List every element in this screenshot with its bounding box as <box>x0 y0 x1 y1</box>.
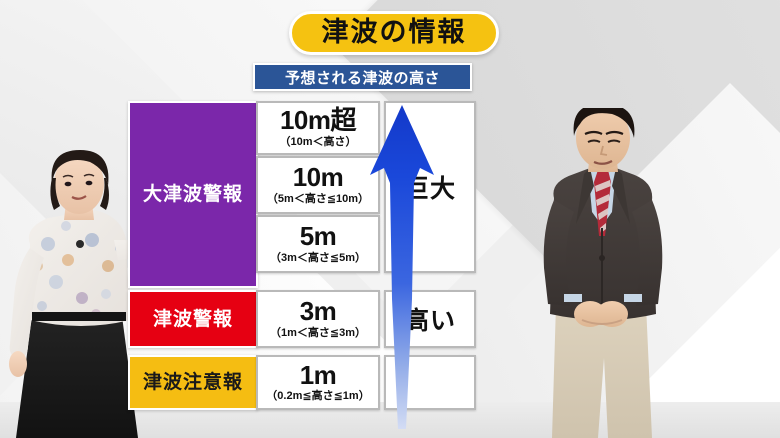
height-range-row1: （10m＜高さ） <box>279 136 356 149</box>
skirt <box>16 316 138 438</box>
alert-level-advisory-label: 津波注意報 <box>143 373 243 392</box>
tsunami-height-table: 予想される津波の高さ 大津波警報 津波警報 津波注意報 10m超 （10m＜高さ… <box>128 63 480 413</box>
height-value-row2: 10m <box>293 164 344 191</box>
lapel-microphone <box>76 240 84 248</box>
height-range-row3: （3m＜高さ≦5m） <box>270 252 366 265</box>
height-value-row1: 10m超 <box>280 107 356 134</box>
severity-word-cell-high: 高い <box>384 290 476 348</box>
program-title-banner: 津波の情報 <box>289 11 499 55</box>
eye <box>65 182 72 187</box>
height-cell-row4: 3m （1m＜高さ≦3m） <box>256 290 380 348</box>
alert-level-major-warning-label: 大津波警報 <box>143 185 243 204</box>
height-cell-row5: 1m （0.2m≦高さ≦1m） <box>256 355 380 410</box>
alert-level-warning: 津波警報 <box>128 290 258 348</box>
table-column-header: 予想される津波の高さ <box>253 63 472 91</box>
alert-level-warning-label: 津波警報 <box>153 310 233 329</box>
height-value-row3: 5m <box>300 223 337 250</box>
height-range-row2: （5m＜高さ≦10m） <box>267 193 369 206</box>
severity-word-high: 高い <box>404 301 456 337</box>
severity-word-cell-empty <box>384 355 476 410</box>
height-value-row5: 1m <box>300 362 337 389</box>
hand-left <box>9 351 27 377</box>
jacket-button <box>599 255 605 261</box>
program-title-text: 津波の情報 <box>322 19 467 48</box>
height-cell-row1: 10m超 （10m＜高さ） <box>256 101 380 155</box>
alert-level-advisory: 津波注意報 <box>128 355 258 410</box>
height-range-row5: （0.2m≦高さ≦1m） <box>266 390 369 403</box>
broadcast-screen: 津波の情報 予想される津波の高さ 大津波警報 津波警報 津波注意報 10m超 （… <box>0 0 780 438</box>
eye <box>86 181 93 186</box>
shirt-cuff <box>564 294 582 302</box>
belt <box>32 312 126 321</box>
alert-level-major-warning: 大津波警報 <box>128 101 258 288</box>
height-cell-row3: 5m （3m＜高さ≦5m） <box>256 215 380 273</box>
shirt-cuff <box>624 294 642 302</box>
severity-word-cell-huge: 巨大 <box>384 101 476 273</box>
height-range-row4: （1m＜高さ≦3m） <box>270 327 366 340</box>
male-presenter <box>512 108 722 438</box>
height-cell-row2: 10m （5m＜高さ≦10m） <box>256 156 380 214</box>
severity-word-huge: 巨大 <box>404 169 456 205</box>
table-column-header-text: 予想される津波の高さ <box>285 67 440 88</box>
height-value-row4: 3m <box>300 298 337 325</box>
